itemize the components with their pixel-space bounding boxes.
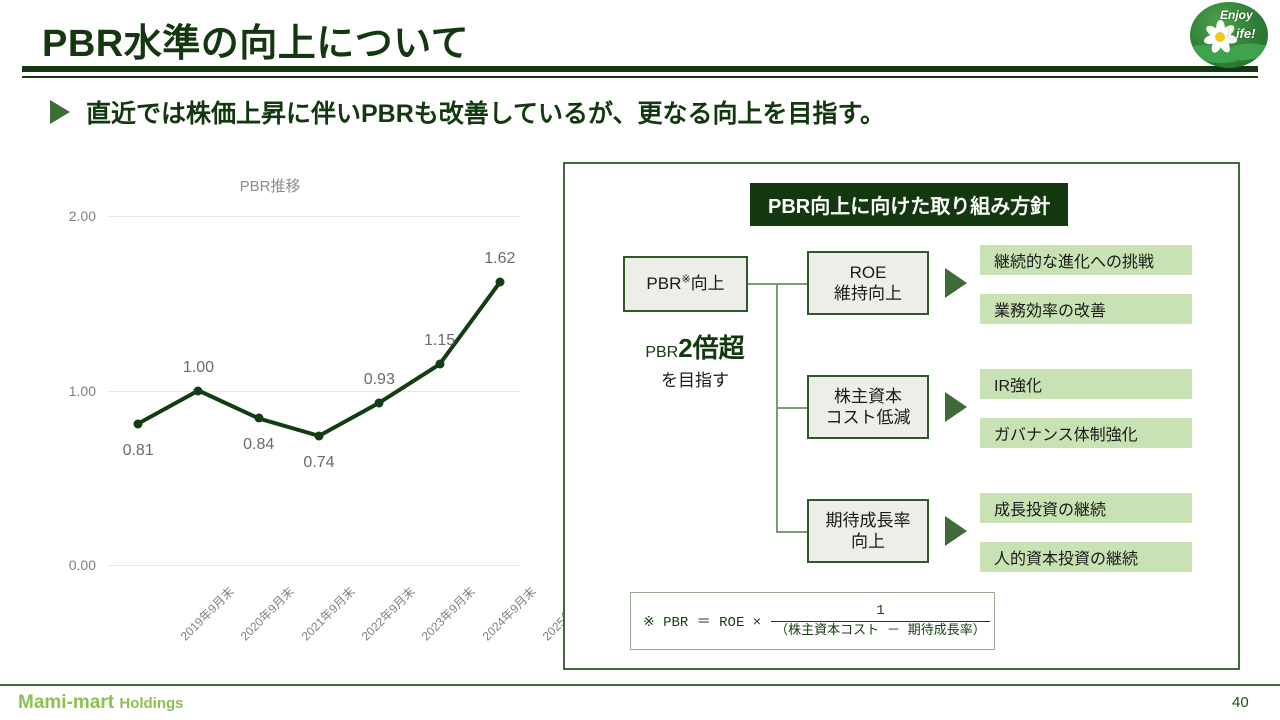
- chart-data-point: [375, 398, 384, 407]
- formula-fraction: 1 （株主資本コスト － 期待成長率）: [771, 603, 990, 639]
- node-equity-cost[interactable]: 株主資本 コスト低減: [807, 375, 929, 439]
- formula-denominator: （株主資本コスト － 期待成長率）: [771, 624, 990, 639]
- footer-brand: Mami-mart: [18, 692, 114, 713]
- subtitle-row: 直近では株価上昇に伴いPBRも改善しているが、更なる向上を目指す。: [50, 94, 885, 130]
- node-growth-rate-line2: 向上: [826, 531, 911, 552]
- formula-left: ※ PBR ＝ ROE ×: [631, 611, 761, 631]
- chart-value-label: 1.15: [424, 332, 455, 350]
- subtitle-text: 直近では株価上昇に伴いPBRも改善しているが、更なる向上を目指す。: [86, 94, 885, 130]
- node-pbr-improvement[interactable]: PBR※向上: [623, 256, 748, 312]
- connector-branch-1: [776, 283, 808, 285]
- footer-rule: [0, 684, 1280, 686]
- chart-value-label: 0.84: [243, 436, 274, 454]
- tag-roe-1[interactable]: 継続的な進化への挑戦: [980, 245, 1192, 275]
- pbr-goal-headline: PBR2倍超: [620, 328, 770, 365]
- formula-bar: [771, 621, 990, 622]
- formula-numerator: 1: [771, 603, 990, 619]
- node-roe[interactable]: ROE 維持向上: [807, 251, 929, 315]
- pbr-line-chart: PBR推移 0.001.002.000.812019年9月末1.002020年9…: [40, 165, 530, 665]
- title-rule-thick: [22, 66, 1258, 72]
- footer-brand-logo: Mami-mart Holdings: [18, 692, 184, 714]
- node-growth-rate[interactable]: 期待成長率 向上: [807, 499, 929, 563]
- node-roe-line2: 維持向上: [834, 283, 902, 304]
- policy-panel-heading: PBR向上に向けた取り組み方針: [750, 183, 1068, 226]
- triangle-bullet-icon: [50, 100, 70, 124]
- chart-value-label: 0.74: [303, 454, 334, 472]
- chart-data-point: [194, 386, 203, 395]
- node-equity-cost-line2: コスト低減: [826, 407, 911, 428]
- connector-root-stub: [748, 283, 778, 285]
- chart-series-line: [40, 165, 530, 605]
- chart-value-label: 0.81: [123, 442, 154, 460]
- chart-value-label: 1.62: [484, 250, 515, 268]
- page-number: 40: [1232, 694, 1249, 711]
- node-growth-rate-line1: 期待成長率: [826, 510, 911, 531]
- chart-data-point: [495, 278, 504, 287]
- chart-data-point: [315, 431, 324, 440]
- chart-data-point: [134, 419, 143, 428]
- node-roe-line1: ROE: [834, 262, 902, 283]
- tag-roe-2[interactable]: 業務効率の改善: [980, 294, 1192, 324]
- page-title: PBR水準の向上について: [42, 12, 469, 67]
- pbr-goal-text: PBR2倍超 を目指す: [620, 328, 770, 391]
- tag-growth-rate-1[interactable]: 成長投資の継続: [980, 493, 1192, 523]
- slide-root: PBR水準の向上について 直近では株価上昇に伴いPBRも改善しているが、更なる向…: [0, 0, 1280, 720]
- tag-equity-cost-1[interactable]: IR強化: [980, 369, 1192, 399]
- enjoy-life-logo: Enjoy Life!: [1190, 2, 1268, 68]
- pbr-goal-sub: を目指す: [620, 366, 770, 391]
- arrow-growth-rate-icon: [945, 516, 967, 546]
- connector-branch-3: [776, 531, 808, 533]
- chart-value-label: 0.93: [364, 371, 395, 389]
- chart-plot-area: 0.001.002.000.812019年9月末1.002020年9月末0.84…: [40, 165, 530, 605]
- chart-data-point: [435, 360, 444, 369]
- connector-branch-2: [776, 407, 808, 409]
- node-equity-cost-line1: 株主資本: [826, 386, 911, 407]
- chart-data-point: [254, 414, 263, 423]
- tag-equity-cost-2[interactable]: ガバナンス体制強化: [980, 418, 1192, 448]
- chart-value-label: 1.00: [183, 359, 214, 377]
- arrow-roe-icon: [945, 268, 967, 298]
- pbr-formula-box: ※ PBR ＝ ROE × 1 （株主資本コスト － 期待成長率）: [630, 592, 995, 650]
- logo-enjoy-text: Enjoy: [1220, 8, 1253, 22]
- arrow-equity-cost-icon: [945, 392, 967, 422]
- title-rule-thin: [22, 76, 1258, 78]
- node-pbr-label: PBR※向上: [646, 273, 724, 294]
- tag-growth-rate-2[interactable]: 人的資本投資の継続: [980, 542, 1192, 572]
- footer-brand-suffix: Holdings: [119, 695, 183, 712]
- logo-life-text: Life!: [1228, 26, 1255, 41]
